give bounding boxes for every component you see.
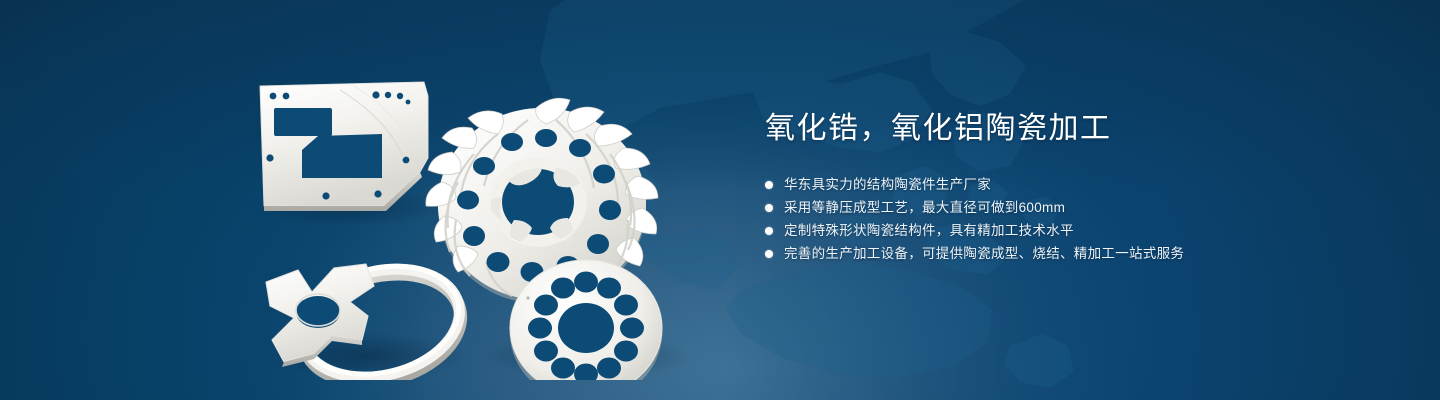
bullet-dot-icon bbox=[765, 227, 773, 235]
bullet-dot-icon bbox=[765, 250, 773, 258]
list-item: 采用等静压成型工艺，最大直径可做到600mm bbox=[765, 196, 1385, 219]
ceramic-mounting-plate bbox=[260, 82, 428, 211]
bullet-dot-icon bbox=[765, 181, 773, 189]
hero-banner: 氧化锆，氧化铝陶瓷加工 华东具实力的结构陶瓷件生产厂家 采用等静压成型工艺，最大… bbox=[0, 0, 1440, 400]
feature-text: 华东具实力的结构陶瓷件生产厂家 bbox=[784, 173, 991, 196]
feature-list: 华东具实力的结构陶瓷件生产厂家 采用等静压成型工艺，最大直径可做到600mm 定… bbox=[765, 173, 1385, 265]
list-item: 完善的生产加工设备，可提供陶瓷成型、烧结、精加工一站式服务 bbox=[765, 242, 1385, 265]
list-item: 华东具实力的结构陶瓷件生产厂家 bbox=[765, 173, 1385, 196]
list-item: 定制特殊形状陶瓷结构件，具有精加工技术水平 bbox=[765, 219, 1385, 242]
feature-text: 采用等静压成型工艺，最大直径可做到600mm bbox=[784, 196, 1065, 219]
bullet-dot-icon bbox=[765, 204, 773, 212]
feature-text: 完善的生产加工设备，可提供陶瓷成型、烧结、精加工一站式服务 bbox=[784, 242, 1184, 265]
banner-copy: 氧化锆，氧化铝陶瓷加工 华东具实力的结构陶瓷件生产厂家 采用等静压成型工艺，最大… bbox=[765, 110, 1385, 265]
ceramic-products-image bbox=[236, 38, 696, 380]
feature-text: 定制特殊形状陶瓷结构件，具有精加工技术水平 bbox=[784, 219, 1074, 242]
ceramic-products-illustration bbox=[236, 38, 696, 380]
page-title: 氧化锆，氧化铝陶瓷加工 bbox=[765, 110, 1385, 148]
